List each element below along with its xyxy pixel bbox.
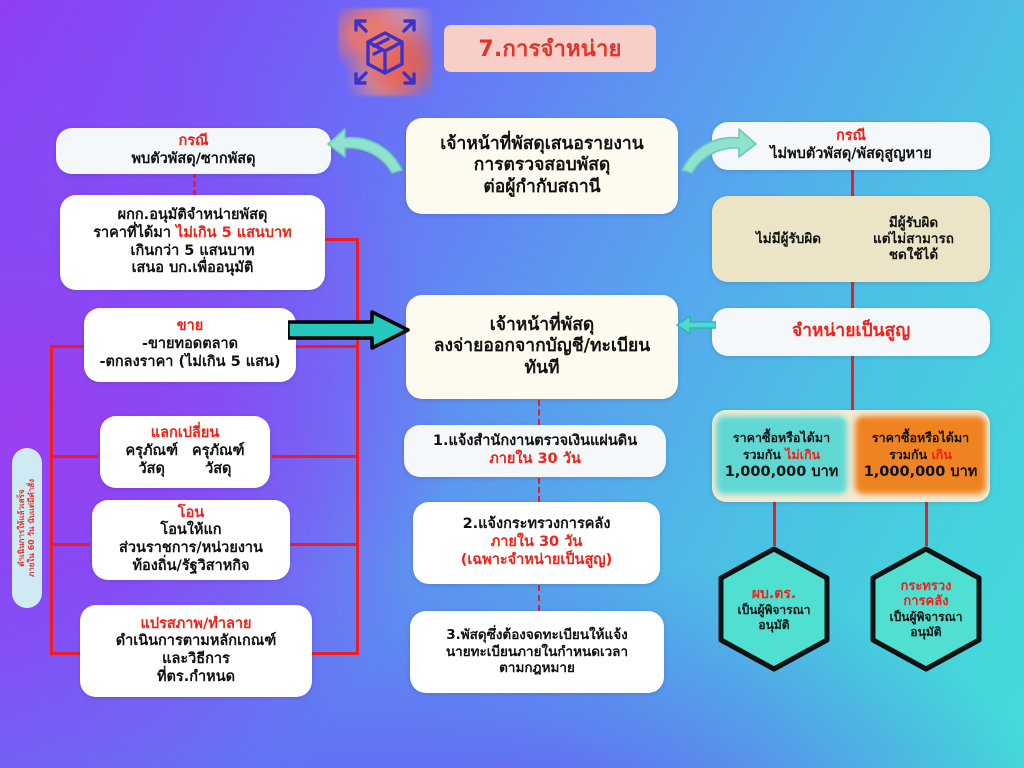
money-right-line-2-prefix: รวมกัน — [889, 447, 931, 462]
connector-writeoff-money — [851, 355, 854, 412]
destroy-line-1: ดำเนินการตามหลักเกณฑ์ — [116, 633, 277, 651]
exchange-heading: แลกเปลี่ยน — [151, 425, 219, 443]
money-left-line-2-prefix: รวมกัน — [743, 447, 785, 462]
left-rail-vertical — [50, 345, 53, 655]
exchange-left-item-1: ครุภัณฑ์ — [125, 443, 178, 461]
money-left-line-2: รวมกัน ไม่เกิน — [725, 447, 839, 463]
destroy-line-2: และวิธีการ — [162, 651, 230, 669]
destroy-heading: แปรสภาพ/ทำลาย — [141, 616, 252, 634]
hex-left-line-2: อนุมัติ — [738, 618, 811, 633]
step2-line-1: 2.แจ้งกระทรวงการคลัง — [463, 516, 611, 534]
connector-casefound-approval — [193, 172, 196, 196]
hex-right-line-1: เป็นผู้พิจารณา — [890, 610, 963, 625]
right-rail-transfer-stub — [288, 543, 359, 546]
connector-money-hexright — [925, 500, 928, 546]
connector-deregister-step1 — [538, 400, 540, 425]
step2-line-3: (เฉพาะจำหน่ายเป็นสูญ) — [461, 552, 613, 570]
money-right-line-2: รวมกัน เกิน — [864, 447, 978, 463]
side-note-badge: ดำเนินการให้แล้วเสร็จ ภายใน 60 วัน นับแต… — [12, 448, 42, 608]
approval-line-2-amount: ไม่เกิน 5 แสนบาท — [176, 225, 292, 241]
deregister-line-3: ทันที — [524, 358, 559, 379]
right-rail-approval-stub — [320, 238, 359, 241]
destroy-line-3: ที่ตร.กำหนด — [157, 669, 235, 687]
node-exchange: แลกเปลี่ยน ครุภัณฑ์ วัสดุ ครุภัณฑ์ วัสดุ — [100, 416, 270, 488]
hex-left-heading: ผบ.ตร. — [738, 586, 811, 603]
start-line-2: การตรวจสอบพัสดุ — [474, 155, 611, 176]
liability-responsible-cannot-pay: มีผู้รับผิด แต่ไม่สามารถ ชดใช้ได้ — [851, 215, 976, 264]
node-hex-police-commissioner: ผบ.ตร. เป็นผู้พิจารณา อนุมัติ — [716, 546, 832, 672]
connector-casenotfound-liability — [851, 170, 854, 198]
transfer-heading: โอน — [178, 505, 204, 523]
sell-heading: ขาย — [177, 318, 204, 336]
approval-line-2-prefix: ราคาที่ได้มา — [93, 225, 176, 241]
start-line-1: เจ้าหน้าที่พัสดุเสนอรายงาน — [440, 134, 643, 155]
deregister-line-1: เจ้าหน้าที่พัสดุ — [490, 315, 595, 336]
node-liability: ไม่มีผู้รับผิด มีผู้รับผิด แต่ไม่สามารถ … — [712, 196, 990, 282]
exchange-right-item-1: ครุภัณฑ์ — [192, 443, 245, 461]
step3-line-3: ตามกฎหมาย — [499, 660, 575, 676]
page-title-pill: 7.การจำหน่าย — [444, 25, 656, 72]
sell-line-2: -ตกลงราคา (ไม่เกิน 5 แสน) — [99, 354, 280, 372]
left-rail-exchange-stub — [50, 455, 98, 458]
infographic-canvas: 7.การจำหน่าย — [0, 0, 1024, 768]
right-rail-vertical — [356, 238, 359, 652]
money-left-line-1: ราคาซื้อหรือได้มา — [725, 430, 839, 446]
liability-no-responsible: ไม่มีผู้รับผิด — [726, 231, 851, 247]
approval-line-1: ผกก.อนุมัติจำหน่ายพัสดุ — [118, 207, 268, 225]
writeoff-label: จำหน่ายเป็นสูญ — [792, 321, 910, 342]
money-cell-over-threshold: ราคาซื้อหรือได้มา รวมกัน เกิน 1,000,000 … — [851, 410, 990, 502]
page-title: 7.การจำหน่าย — [478, 31, 621, 66]
arrow-writeoff-to-deregister — [676, 314, 716, 336]
sell-line-1: -ขายทอดตลาด — [142, 336, 238, 354]
node-writeoff: จำหน่ายเป็นสูญ — [712, 308, 990, 356]
node-approval: ผกก.อนุมัติจำหน่ายพัสดุ ราคาที่ได้มา ไม่… — [60, 195, 325, 290]
step3-line-2: นายทะเบียนภายในกำหนดเวลา — [446, 644, 628, 660]
left-rail-transfer-stub — [50, 543, 90, 546]
money-left-amount: 1,000,000 บาท — [725, 463, 839, 482]
hex-right-line-2: อนุมัติ — [890, 625, 963, 640]
money-left-line-2-qualifier: ไม่เกิน — [785, 447, 820, 462]
exchange-col-right: ครุภัณฑ์ วัสดุ — [192, 443, 245, 478]
connector-money-hexleft — [773, 500, 776, 546]
case-not-found-heading: กรณี — [836, 128, 866, 146]
arrow-options-to-deregister — [288, 310, 410, 350]
hex-right-text: กระทรวง การคลัง เป็นผู้พิจารณา อนุมัติ — [890, 579, 963, 640]
liability-right-line-2: แต่ไม่สามารถ — [851, 231, 976, 247]
package-box-distribute-icon — [330, 2, 440, 102]
deregister-line-2: ลงจ่ายออกจากบัญชี/ทะเบียน — [434, 336, 650, 357]
hex-left-line-1: เป็นผู้พิจารณา — [738, 603, 811, 618]
node-hex-ministry-of-finance: กระทรวง การคลัง เป็นผู้พิจารณา อนุมัติ — [868, 546, 984, 672]
transfer-line-2: ส่วนราชการ/หน่วยงาน — [119, 540, 263, 558]
hex-right-heading-2: การคลัง — [890, 594, 963, 610]
node-case-found: กรณี พบตัวพัสดุ/ซากพัสดุ — [56, 128, 331, 174]
node-step-3: 3.พัสดุซึ่งต้องจดทะเบียนให้แจ้ง นายทะเบี… — [410, 611, 664, 693]
exchange-col-left: ครุภัณฑ์ วัสดุ — [125, 443, 178, 478]
node-deregister: เจ้าหน้าที่พัสดุ ลงจ่ายออกจากบัญชี/ทะเบี… — [406, 295, 678, 399]
money-left-text: ราคาซื้อหรือได้มา รวมกัน ไม่เกิน 1,000,0… — [725, 430, 839, 481]
step2-line-2: ภายใน 30 วัน — [491, 534, 583, 552]
case-found-heading: กรณี — [178, 133, 208, 151]
exchange-right-item-2: วัสดุ — [192, 461, 245, 479]
hex-right-heading-1: กระทรวง — [890, 579, 963, 595]
approval-line-4: เสนอ บก.เพื่ออนุมัติ — [132, 260, 254, 278]
node-destroy: แปรสภาพ/ทำลาย ดำเนินการตามหลักเกณฑ์ และว… — [80, 605, 312, 697]
side-note-text: ดำเนินการให้แล้วเสร็จ ภายใน 60 วัน นับแต… — [17, 479, 37, 577]
hex-left-text: ผบ.ตร. เป็นผู้พิจารณา อนุมัติ — [738, 586, 811, 632]
case-not-found-text: ไม่พบตัวพัสดุ/พัสดุสูญหาย — [770, 146, 932, 164]
left-rail-destroy-stub — [50, 652, 82, 655]
connector-step2-step3 — [538, 585, 540, 611]
arrow-start-to-case-not-found — [678, 126, 758, 176]
money-cell-under-threshold: ราคาซื้อหรือได้มา รวมกัน ไม่เกิน 1,000,0… — [712, 410, 851, 502]
right-rail-exchange-stub — [272, 455, 359, 458]
money-right-line-1: ราคาซื้อหรือได้มา — [864, 430, 978, 446]
connector-liability-writeoff — [851, 281, 854, 309]
node-step-1: 1.แจ้งสำนักงานตรวจเงินแผ่นดิน ภายใน 30 ว… — [404, 425, 666, 477]
node-start: เจ้าหน้าที่พัสดุเสนอรายงาน การตรวจสอบพัส… — [406, 118, 678, 214]
liability-right-line-3: ชดใช้ได้ — [851, 247, 976, 263]
money-right-amount: 1,000,000 บาท — [864, 463, 978, 482]
case-found-text: พบตัวพัสดุ/ซากพัสดุ — [131, 151, 255, 169]
transfer-line-1: โอนให้แก — [160, 522, 221, 540]
arrow-start-to-case-found — [326, 126, 406, 176]
step3-line-1: 3.พัสดุซึ่งต้องจดทะเบียนให้แจ้ง — [446, 627, 628, 643]
right-rail-destroy-stub — [312, 652, 359, 655]
step1-line-1: 1.แจ้งสำนักงานตรวจเงินแผ่นดิน — [433, 433, 637, 451]
connector-step1-step2 — [538, 478, 540, 502]
approval-line-2: ราคาที่ได้มา ไม่เกิน 5 แสนบาท — [93, 225, 292, 243]
node-sell: ขาย -ขายทอดตลาด -ตกลงราคา (ไม่เกิน 5 แสน… — [84, 308, 296, 382]
exchange-left-item-2: วัสดุ — [125, 461, 178, 479]
node-purchase-price-thresholds: ราคาซื้อหรือได้มา รวมกัน ไม่เกิน 1,000,0… — [712, 410, 990, 502]
start-line-3: ต่อผู้กำกับสถานี — [483, 177, 600, 198]
money-right-line-2-qualifier: เกิน — [932, 447, 952, 462]
exchange-columns: ครุภัณฑ์ วัสดุ ครุภัณฑ์ วัสดุ — [125, 443, 244, 478]
liability-right-line-1: มีผู้รับผิด — [851, 215, 976, 231]
approval-line-3: เกินกว่า 5 แสนบาท — [131, 243, 255, 261]
node-transfer: โอน โอนให้แก ส่วนราชการ/หน่วยงาน ท้องถิ่… — [92, 500, 290, 580]
transfer-line-3: ท้องถิ่น/รัฐวิสาหกิจ — [132, 558, 249, 576]
step1-line-2: ภายใน 30 วัน — [489, 451, 581, 469]
node-step-2: 2.แจ้งกระทรวงการคลัง ภายใน 30 วัน (เฉพาะ… — [413, 502, 660, 584]
money-right-text: ราคาซื้อหรือได้มา รวมกัน เกิน 1,000,000 … — [864, 430, 978, 481]
